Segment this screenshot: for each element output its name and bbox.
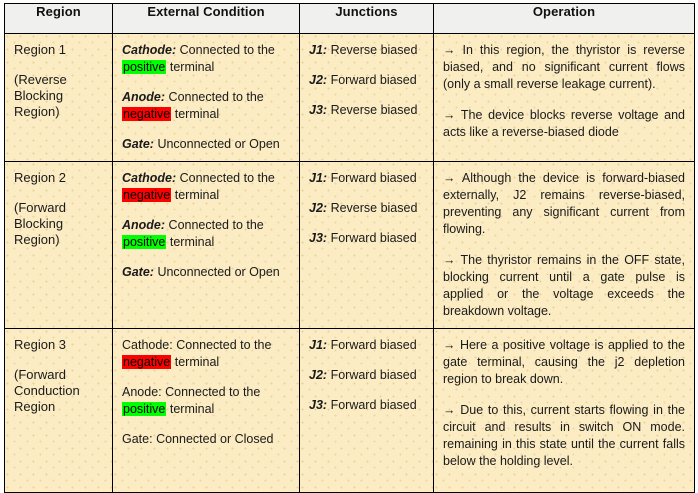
junction-entry: J2: Forward biased <box>309 72 425 89</box>
cathode-text-before: Connected to the <box>176 338 271 352</box>
region-name: Region 2 <box>14 170 104 186</box>
junction-state: Forward biased <box>331 231 417 245</box>
anode-text-after: terminal <box>171 107 219 121</box>
table-row: Region 3 (Forward Conduction Region Cath… <box>5 329 695 493</box>
gate-label: Gate: <box>122 137 154 151</box>
region-name: Region 3 <box>14 337 104 353</box>
junction-state: Forward biased <box>331 73 417 87</box>
cathode-text-after: terminal <box>171 188 219 202</box>
cell-operation: → Here a positive voltage is applied to … <box>434 329 695 493</box>
header-row: Region External Condition Junctions Oper… <box>5 4 695 34</box>
table-row: Region 1 (Reverse Blocking Region) Catho… <box>5 34 695 162</box>
anode-label: Anode: <box>122 218 165 232</box>
cathode-highlight: negative <box>122 355 171 369</box>
cathode-label: Cathode: <box>122 171 176 185</box>
gate-text: Unconnected or Open <box>157 137 279 151</box>
junction-entry: J1: Forward biased <box>309 337 425 354</box>
cell-operation: → In this region, the thyristor is rever… <box>434 34 695 162</box>
anode-label: Anode: <box>122 385 162 399</box>
operation-paragraph: → Due to this, current starts flowing in… <box>443 402 685 470</box>
operation-paragraph: → Here a positive voltage is applied to … <box>443 337 685 388</box>
column-header-junctions: Junctions <box>300 4 434 34</box>
junction-label: J3: <box>309 103 327 117</box>
cathode-text-after: terminal <box>166 60 214 74</box>
cathode-condition: Cathode: Connected to the negative termi… <box>122 337 291 371</box>
region-subtitle: (Forward Conduction Region <box>14 367 104 415</box>
junction-state: Reverse biased <box>331 103 418 117</box>
cell-external-condition: Cathode: Connected to the positive termi… <box>113 34 300 162</box>
junction-state: Forward biased <box>331 398 417 412</box>
table-header: Region External Condition Junctions Oper… <box>5 4 695 34</box>
table-body: Region 1 (Reverse Blocking Region) Catho… <box>5 34 695 493</box>
cell-operation: → Although the device is forward-biased … <box>434 162 695 329</box>
cell-region: Region 3 (Forward Conduction Region <box>5 329 113 493</box>
operation-paragraph: → Although the device is forward-biased … <box>443 170 685 238</box>
cathode-condition: Cathode: Connected to the negative termi… <box>122 170 291 204</box>
junction-label: J2: <box>309 368 327 382</box>
anode-label: Anode: <box>122 90 165 104</box>
cathode-text-before: Connected to the <box>180 171 275 185</box>
cell-region: Region 1 (Reverse Blocking Region) <box>5 34 113 162</box>
gate-text: Unconnected or Open <box>157 265 279 279</box>
junction-entry: J1: Reverse biased <box>309 42 425 59</box>
operation-paragraph: → The thyristor remains in the OFF state… <box>443 252 685 320</box>
cathode-highlight: positive <box>122 60 166 74</box>
anode-condition: Anode: Connected to the positive termina… <box>122 217 291 251</box>
anode-highlight: negative <box>122 107 171 121</box>
cathode-highlight: negative <box>122 188 171 202</box>
table-container: Region External Condition Junctions Oper… <box>0 0 698 444</box>
cathode-label: Cathode: <box>122 338 173 352</box>
junction-label: J1: <box>309 43 327 57</box>
column-header-external-condition: External Condition <box>113 4 300 34</box>
junction-state: Reverse biased <box>331 201 418 215</box>
junction-label: J2: <box>309 201 327 215</box>
junction-entry: J3: Forward biased <box>309 230 425 247</box>
junction-entry: J2: Reverse biased <box>309 200 425 217</box>
cathode-condition: Cathode: Connected to the positive termi… <box>122 42 291 76</box>
thyristor-regions-table: Region External Condition Junctions Oper… <box>4 3 695 493</box>
junction-entry: J1: Forward biased <box>309 170 425 187</box>
junction-label: J1: <box>309 338 327 352</box>
junction-state: Forward biased <box>331 171 417 185</box>
junction-state: Forward biased <box>331 368 417 382</box>
anode-text-before: Connected to the <box>169 90 264 104</box>
junction-label: J3: <box>309 398 327 412</box>
gate-condition: Gate: Unconnected or Open <box>122 136 291 153</box>
junction-state: Reverse biased <box>331 43 418 57</box>
anode-highlight: positive <box>122 402 166 416</box>
cell-external-condition: Cathode: Connected to the negative termi… <box>113 162 300 329</box>
anode-condition: Anode: Connected to the negative termina… <box>122 89 291 123</box>
junction-label: J1: <box>309 171 327 185</box>
table-row: Region 2 (Forward Blocking Region) Catho… <box>5 162 695 329</box>
cathode-label: Cathode: <box>122 43 176 57</box>
cell-junctions: J1: Forward biased J2: Reverse biased J3… <box>300 162 434 329</box>
gate-label: Gate: <box>122 265 154 279</box>
operation-paragraph: → The device blocks reverse voltage and … <box>443 107 685 141</box>
anode-text-before: Connected to the <box>165 385 260 399</box>
gate-condition: Gate: Unconnected or Open <box>122 264 291 281</box>
anode-text-after: terminal <box>166 235 214 249</box>
cell-external-condition: Cathode: Connected to the negative termi… <box>113 329 300 493</box>
operation-paragraph: → In this region, the thyristor is rever… <box>443 42 685 93</box>
gate-condition: Gate: Connected or Closed <box>122 431 291 448</box>
anode-text-before: Connected to the <box>169 218 264 232</box>
column-header-operation: Operation <box>434 4 695 34</box>
junction-label: J2: <box>309 73 327 87</box>
cell-junctions: J1: Forward biased J2: Forward biased J3… <box>300 329 434 493</box>
region-name: Region 1 <box>14 42 104 58</box>
cell-region: Region 2 (Forward Blocking Region) <box>5 162 113 329</box>
column-header-region: Region <box>5 4 113 34</box>
anode-text-after: terminal <box>166 402 214 416</box>
cathode-text-before: Connected to the <box>180 43 275 57</box>
region-subtitle: (Forward Blocking Region) <box>14 200 104 248</box>
anode-highlight: positive <box>122 235 166 249</box>
junction-entry: J3: Forward biased <box>309 397 425 414</box>
junction-entry: J2: Forward biased <box>309 367 425 384</box>
junction-entry: J3: Reverse biased <box>309 102 425 119</box>
cell-junctions: J1: Reverse biased J2: Forward biased J3… <box>300 34 434 162</box>
cathode-text-after: terminal <box>171 355 219 369</box>
junction-state: Forward biased <box>331 338 417 352</box>
region-subtitle: (Reverse Blocking Region) <box>14 72 104 120</box>
anode-condition: Anode: Connected to the positive termina… <box>122 384 291 418</box>
junction-label: J3: <box>309 231 327 245</box>
